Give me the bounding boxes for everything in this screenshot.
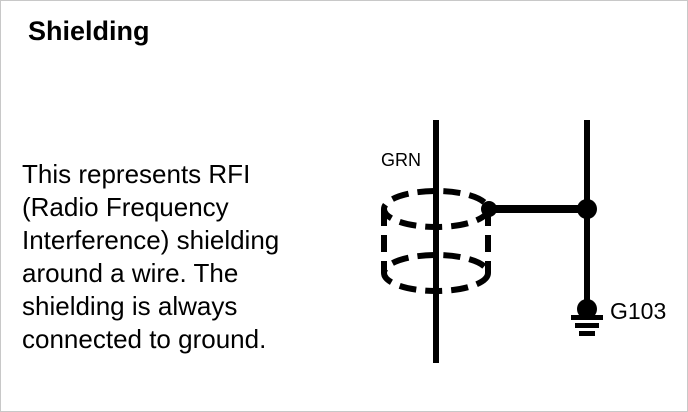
earth-ground-symbol xyxy=(571,299,603,336)
description-text: This represents RFI (Radio Frequency Int… xyxy=(22,158,352,356)
ground-label-g103: G103 xyxy=(610,298,666,324)
description-line: around a wire. The xyxy=(22,257,352,290)
description-line: shielding is always xyxy=(22,290,352,323)
wire-label-grn: GRN xyxy=(381,150,421,170)
description-line: Interference) shielding xyxy=(22,224,352,257)
description-line: (Radio Frequency xyxy=(22,191,352,224)
description-line: connected to ground. xyxy=(22,323,352,356)
description-line: This represents RFI xyxy=(22,158,352,191)
slide-page: Shielding This represents RFI (Radio Fre… xyxy=(0,0,688,412)
shielding-schematic-diagram: GRN G103 xyxy=(351,101,688,391)
page-title: Shielding xyxy=(28,15,150,47)
